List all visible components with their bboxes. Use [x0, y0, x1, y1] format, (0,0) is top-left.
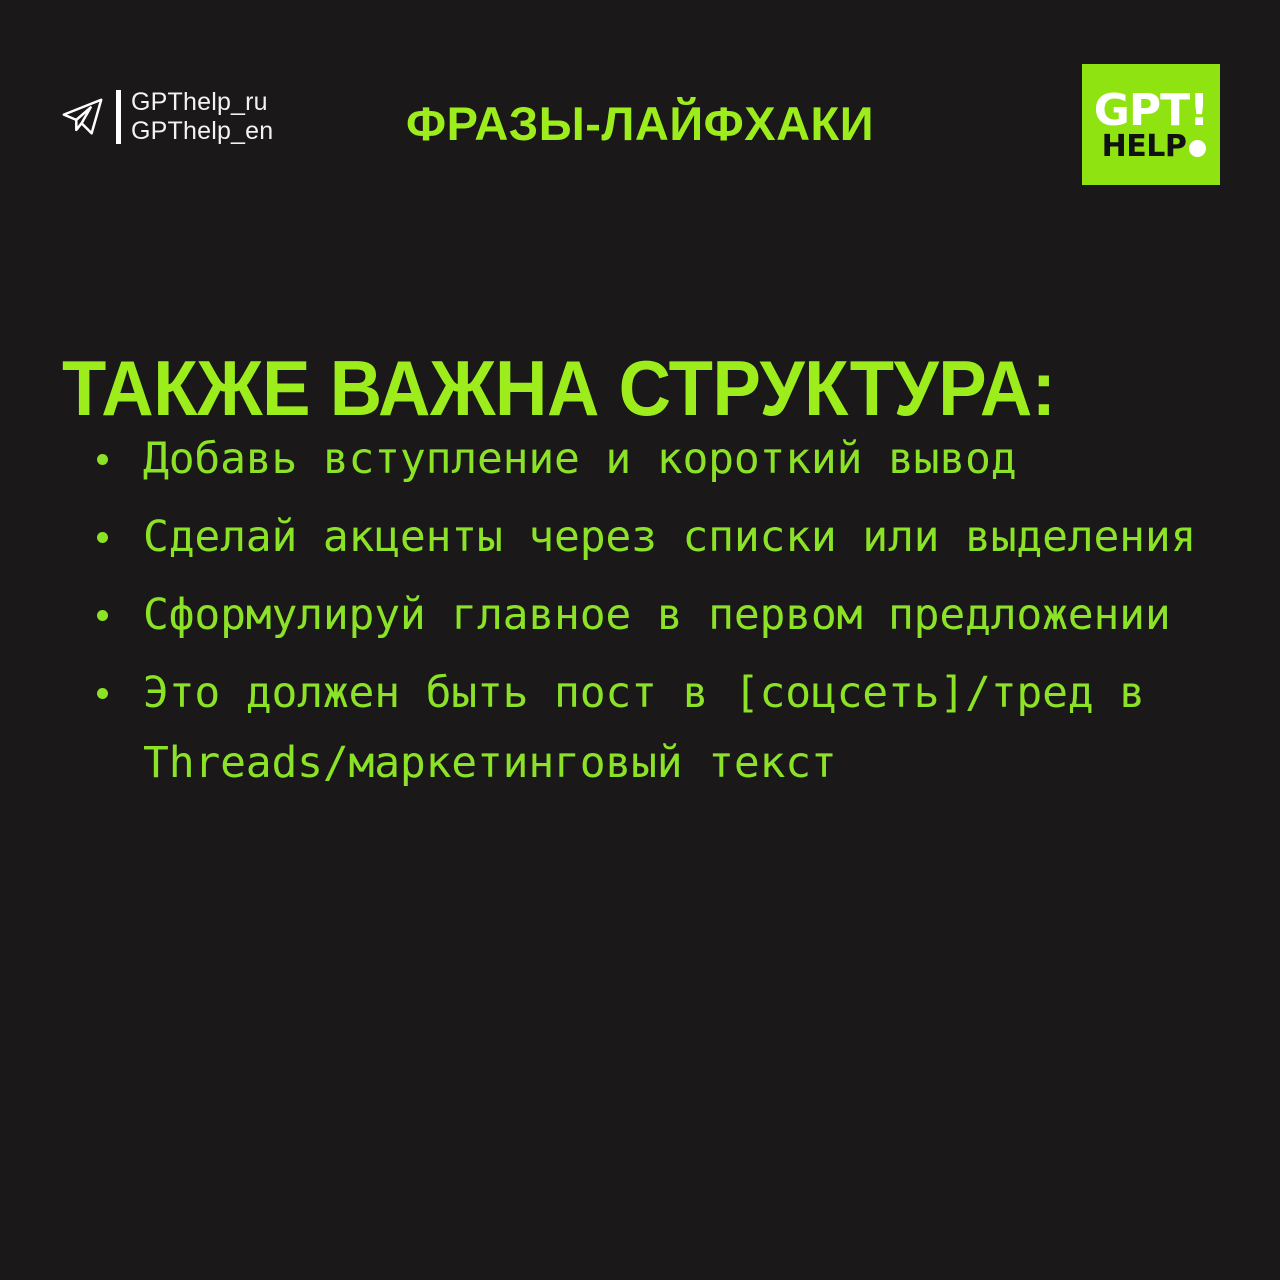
page-title: ТАКЖЕ ВАЖНА СТРУКТУРА:: [62, 348, 1141, 428]
list-item-text: Сделай акценты через списки или выделени…: [143, 502, 1248, 572]
bullet-dot-icon: [97, 610, 108, 621]
header: GPThelp_ru GPThelp_en ФРАЗЫ-ЛАЙФХАКИ GPT…: [0, 0, 1280, 200]
list-item: Сформулируй главное в первом предложении: [88, 580, 1248, 650]
bullet-dot-icon: [97, 688, 108, 699]
list-item-text: Это должен быть пост в [соцсеть]/тред в …: [143, 658, 1248, 798]
bullet-dot-icon: [97, 454, 108, 465]
list-item: Сделай акценты через списки или выделени…: [88, 502, 1248, 572]
list-item: Добавь вступление и короткий вывод: [88, 424, 1248, 494]
logo-dot-icon: [1189, 140, 1206, 157]
logo-top-text: GPT!: [1094, 91, 1208, 131]
logo-bottom-text: HELP: [1102, 132, 1187, 162]
list-item-text: Добавь вступление и короткий вывод: [143, 424, 1248, 494]
slide-canvas: GPThelp_ru GPThelp_en ФРАЗЫ-ЛАЙФХАКИ GPT…: [0, 0, 1280, 1280]
list-item: Это должен быть пост в [соцсеть]/тред в …: [88, 658, 1248, 798]
gpthelp-logo-badge[interactable]: GPT! HELP: [1082, 64, 1220, 185]
bullet-dot-icon: [97, 532, 108, 543]
list-item-text: Сформулируй главное в первом предложении: [143, 580, 1248, 650]
logo-bottom-row: HELP: [1102, 132, 1207, 162]
structure-tips-list: Добавь вступление и короткий вывод Сдела…: [88, 424, 1248, 806]
